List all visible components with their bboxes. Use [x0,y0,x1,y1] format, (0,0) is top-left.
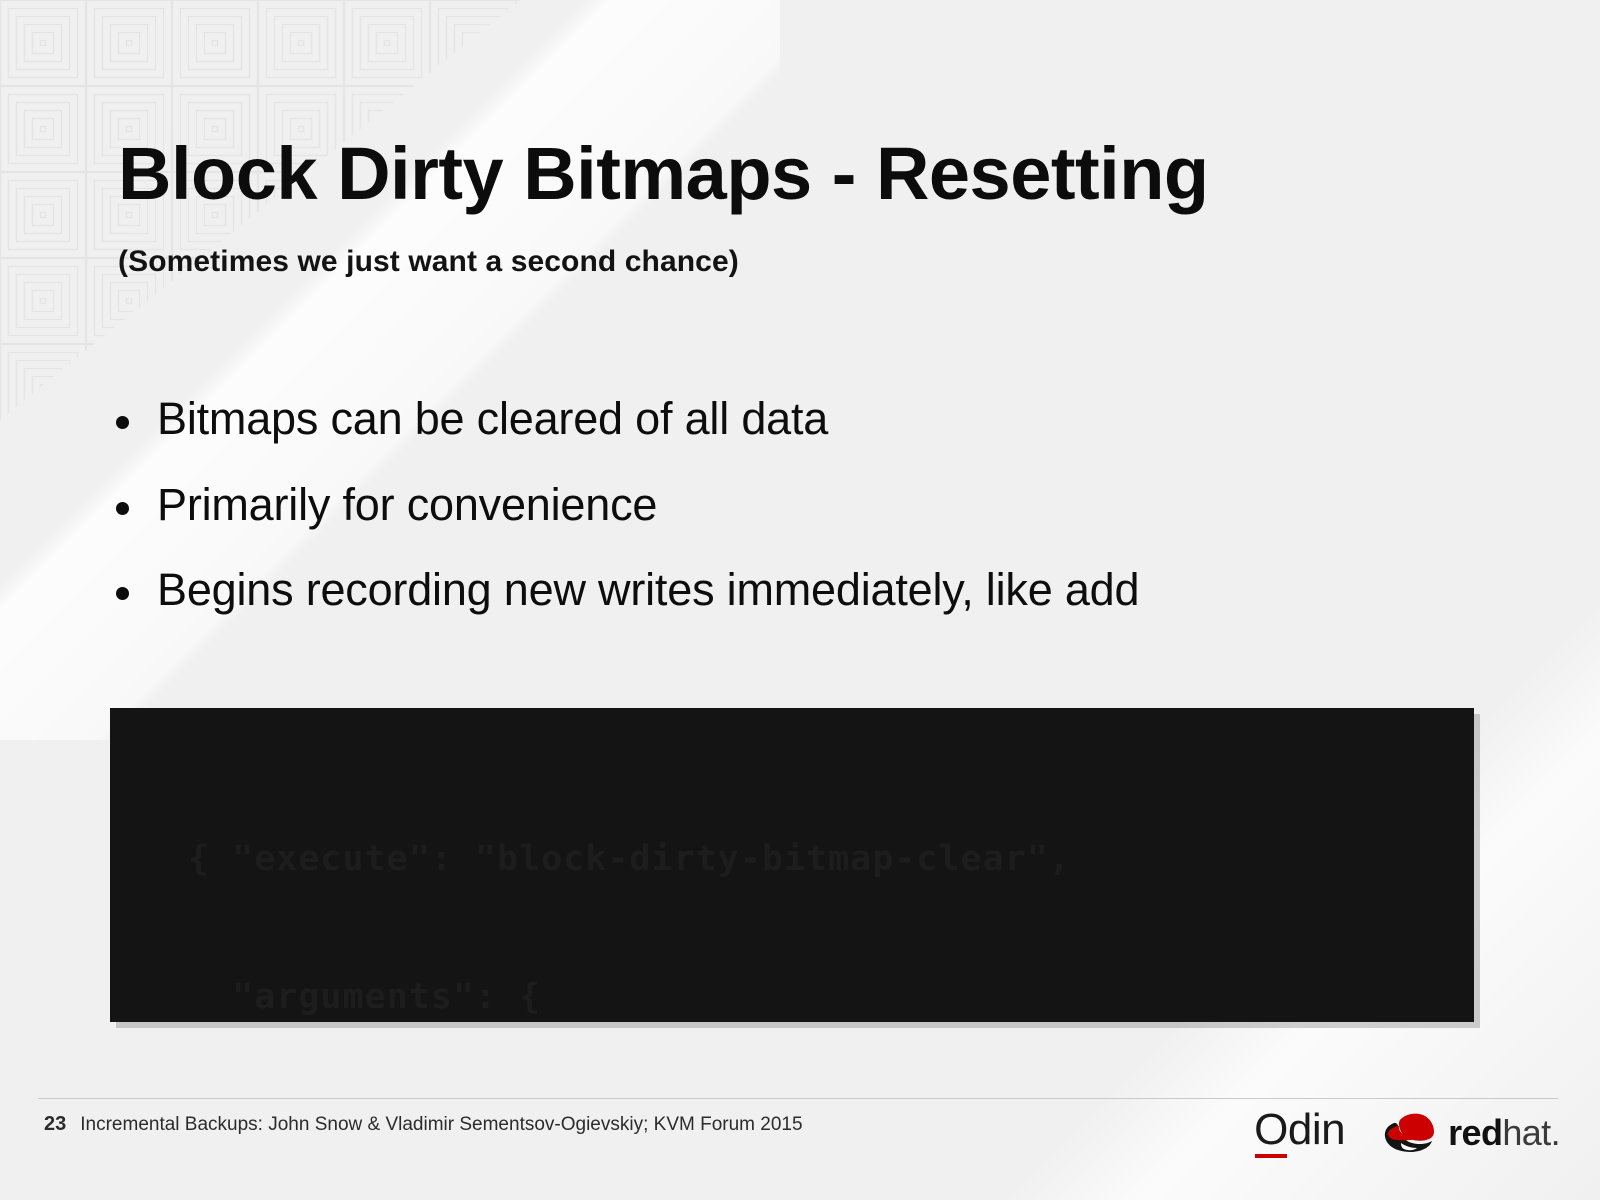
code-content: { "execute": "block-dirty-bitmap-clear",… [110,708,1474,1022]
list-item: Begins recording new writes immediately,… [116,561,1516,619]
bullet-text: Bitmaps can be cleared of all data [157,390,828,448]
slide-subtitle: (Sometimes we just want a second chance) [118,245,739,279]
odin-logo: Odin [1254,1108,1345,1158]
slide: Block Dirty Bitmaps - Resetting (Sometim… [0,0,1600,1200]
redhat-logo: redhat. [1379,1111,1560,1155]
bullet-list: Bitmaps can be cleared of all data Prima… [116,390,1516,647]
code-line: { "execute": "block-dirty-bitmap-clear", [188,836,1474,882]
bullet-dot-icon [116,416,129,429]
list-item: Bitmaps can be cleared of all data [116,390,1516,448]
redhat-shadowman-icon [1379,1111,1439,1155]
footer: 23 Incremental Backups: John Snow & Vlad… [44,1113,803,1136]
redhat-logo-text-dot: . [1551,1112,1560,1153]
logo-group: Odin redhat. [1254,1098,1560,1168]
code-block: { "execute": "block-dirty-bitmap-clear",… [110,708,1474,1022]
bullet-text: Begins recording new writes immediately,… [157,561,1139,619]
code-line: "arguments": { [188,974,1474,1020]
bullet-text: Primarily for convenience [157,476,657,534]
redhat-logo-text: redhat. [1448,1115,1560,1151]
odin-logo-underline [1255,1154,1287,1158]
page-number: 23 [44,1113,66,1136]
redhat-logo-text-hat: hat [1502,1112,1550,1153]
list-item: Primarily for convenience [116,476,1516,534]
slide-title: Block Dirty Bitmaps - Resetting [118,136,1209,213]
redhat-logo-text-red: red [1448,1112,1502,1153]
odin-logo-text: Odin [1254,1108,1345,1152]
bullet-dot-icon [116,587,129,600]
footer-text: Incremental Backups: John Snow & Vladimi… [80,1114,802,1136]
bullet-dot-icon [116,502,129,515]
